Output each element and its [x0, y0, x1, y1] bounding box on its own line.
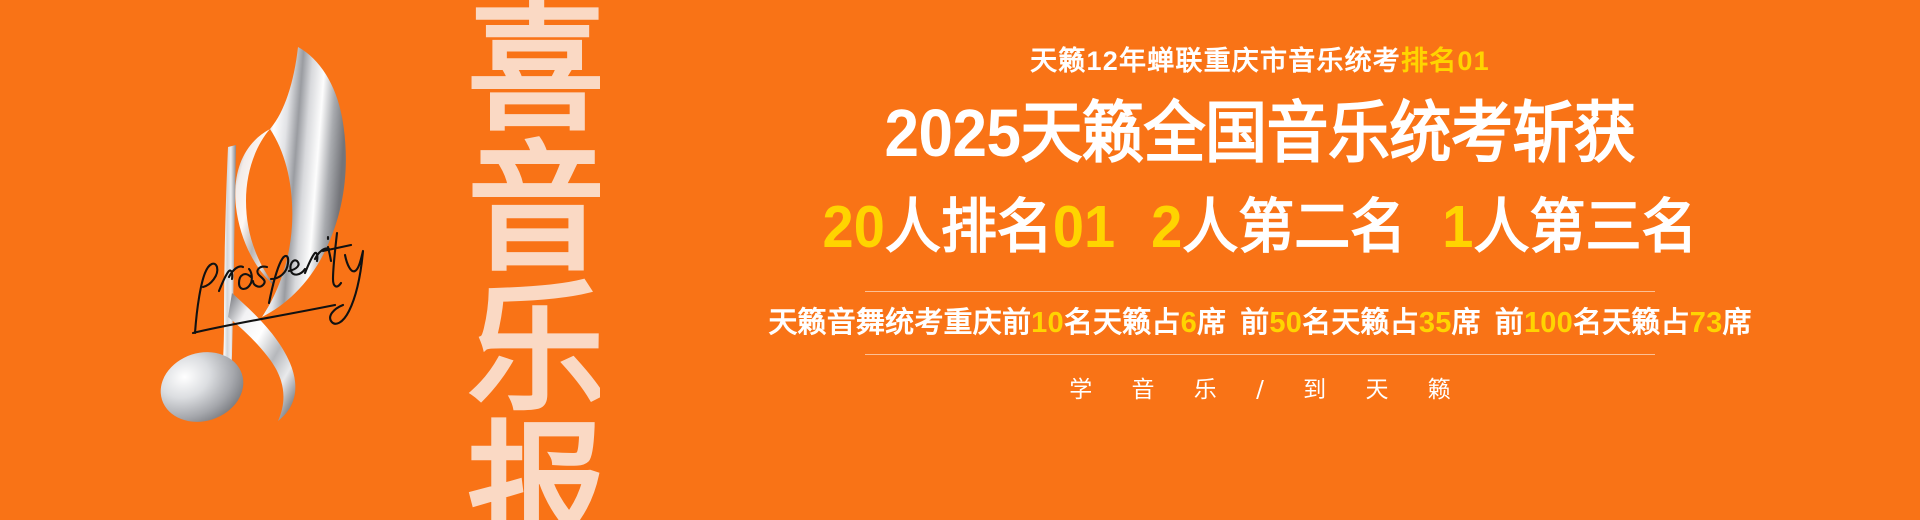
banner-root: 喜音乐报 [0, 0, 1920, 520]
award-1-number: 20 [823, 197, 885, 256]
eyebrow-lead: 天籁12年蝉联重庆市音乐统考 [1030, 46, 1401, 76]
music-note-icon [150, 25, 450, 425]
stats-n5: 100 [1524, 307, 1573, 339]
stats-t2: 席 [1197, 307, 1226, 339]
stats-lead: 天籁音舞统考重庆前 [768, 307, 1031, 339]
stats-t6: 席 [1722, 307, 1751, 339]
award-3-label: 人第三名 [1473, 197, 1697, 256]
slogan: 学 音 乐 / 到 天 籁 [1053, 379, 1467, 402]
stats-t3: 名天籁占 [1302, 307, 1419, 339]
eyebrow-line: 天籁12年蝉联重庆市音乐统考排名01 [1030, 48, 1490, 75]
stats-n6: 73 [1690, 307, 1723, 339]
divider-bottom [865, 354, 1655, 355]
stats-line: 天籁音舞统考重庆前10名天籁占6席前50名天籁占35席前100名天籁占73席 [768, 292, 1751, 354]
eyebrow-highlight: 排名01 [1401, 46, 1490, 76]
left-graphic: 喜音乐报 [0, 0, 600, 520]
award-3-number: 1 [1442, 197, 1473, 256]
stats-t5: 名天籁占 [1573, 307, 1690, 339]
award-2-label: 人第二名 [1182, 197, 1406, 256]
awards-line: 20人排名01 2人第二名 1人第三名 [823, 197, 1698, 256]
stats-n3: 50 [1269, 307, 1302, 339]
award-1-label: 人排名 [885, 197, 1053, 256]
stats-t1: 名天籁占 [1064, 307, 1181, 339]
content-column: 天籁12年蝉联重庆市音乐统考排名01 2025天籁全国音乐统考斩获 20人排名0… [600, 0, 1920, 520]
stats-n2: 6 [1181, 307, 1197, 339]
stats-n4: 35 [1419, 307, 1452, 339]
stats-lead3: 前 [1495, 307, 1524, 339]
award-1-rank: 01 [1053, 197, 1115, 256]
stats-lead2: 前 [1240, 307, 1269, 339]
stats-t4: 席 [1452, 307, 1481, 339]
headline: 2025天籁全国音乐统考斩获 [885, 101, 1636, 168]
stats-n1: 10 [1031, 307, 1064, 339]
award-2-number: 2 [1151, 197, 1182, 256]
